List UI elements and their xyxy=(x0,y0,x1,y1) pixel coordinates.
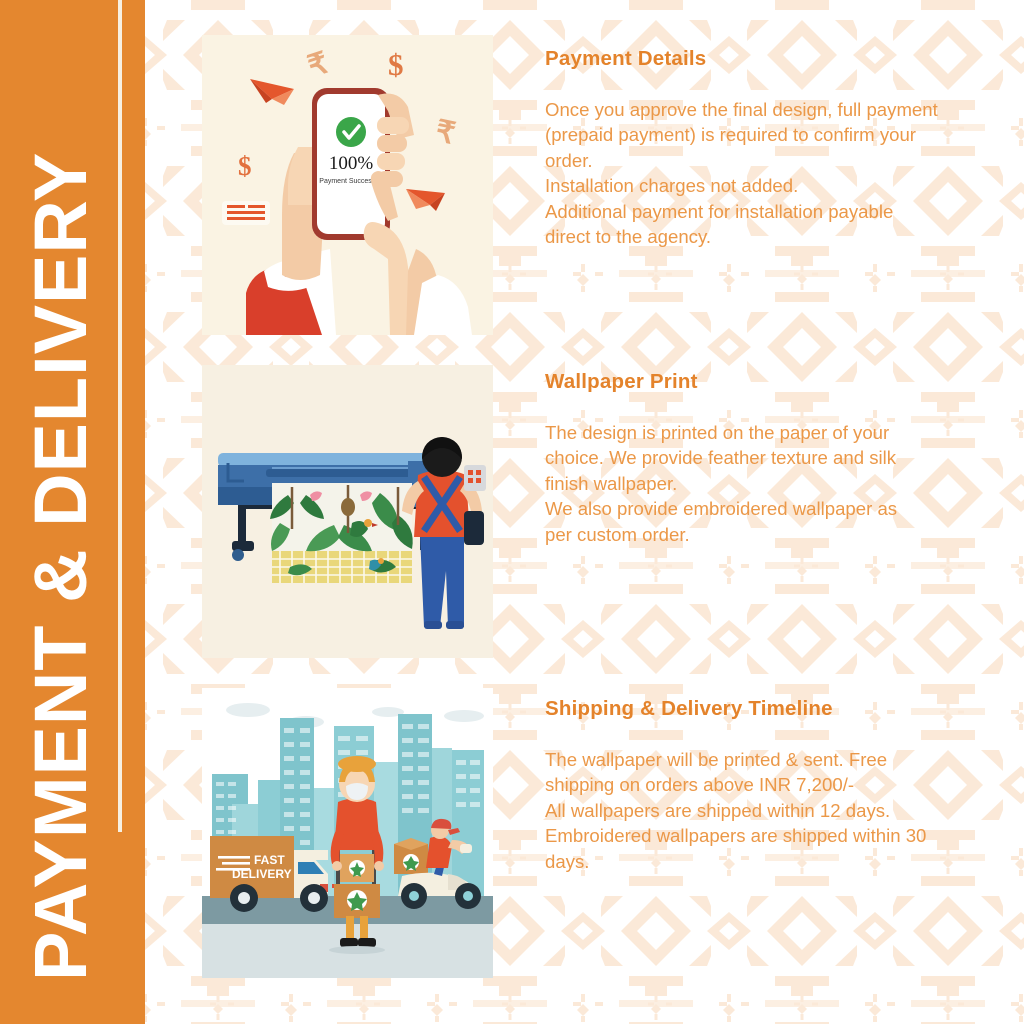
section-title: Wallpaper Print xyxy=(545,371,965,394)
body-line: Once you approve the final design, full … xyxy=(545,97,965,123)
body-line: Additional payment for installation paya… xyxy=(545,199,965,225)
body-line: order. xyxy=(545,148,965,174)
body-line: Installation charges not added. xyxy=(545,173,965,199)
section-body: The design is printed on the paper of yo… xyxy=(545,420,965,548)
body-line: choice. We provide feather texture and s… xyxy=(545,445,965,471)
page-title: PAYMENT & DELIVERY xyxy=(24,17,98,1007)
truck-label-line1: FAST xyxy=(254,853,285,867)
body-line: per custom order. xyxy=(545,522,965,548)
section-body: Once you approve the final design, full … xyxy=(545,97,965,250)
section-title: Shipping & Delivery Timeline xyxy=(545,698,965,721)
poster-root: PAYMENT & DELIVERY ₹ $ ₹ $ xyxy=(0,0,1024,1024)
body-line: The wallpaper will be printed & sent. Fr… xyxy=(545,747,965,773)
body-line: days. xyxy=(545,849,965,875)
phone-percent-label: 100% xyxy=(329,153,374,174)
tropical-print-wallpaper xyxy=(270,483,413,583)
section-title: Payment Details xyxy=(545,48,965,71)
currency-dollar-icon: $ xyxy=(388,47,404,82)
large-format-printer-illustration xyxy=(202,365,493,658)
city-delivery-illustration: FAST DELIVERY xyxy=(202,688,493,978)
shipping-delivery-text: Shipping & Delivery Timeline The wallpap… xyxy=(545,688,965,874)
wallpaper-print-text: Wallpaper Print The design is printed on… xyxy=(545,365,965,547)
section-body: The wallpaper will be printed & sent. Fr… xyxy=(545,747,965,875)
chat-lines-icon xyxy=(222,201,270,225)
title-banner: PAYMENT & DELIVERY xyxy=(0,0,145,1024)
body-line: All wallpapers are shipped within 12 day… xyxy=(545,798,965,824)
section-wallpaper-print: Wallpaper Print The design is printed on… xyxy=(145,365,1024,658)
section-shipping-delivery: FAST DELIVERY xyxy=(145,688,1024,978)
payment-success-phone-illustration: ₹ $ ₹ $ xyxy=(202,35,493,335)
body-line: (prepaid payment) is required to confirm… xyxy=(545,122,965,148)
body-line: Embroidered wallpapers are shipped withi… xyxy=(545,823,965,849)
section-payment-details: ₹ $ ₹ $ xyxy=(145,35,1024,335)
body-line: The design is printed on the paper of yo… xyxy=(545,420,965,446)
truck-label-line2: DELIVERY xyxy=(232,867,292,881)
banner-title-wrap: PAYMENT & DELIVERY xyxy=(0,0,122,1024)
body-line: finish wallpaper. xyxy=(545,471,965,497)
body-line: We also provide embroidered wallpaper as xyxy=(545,496,965,522)
payment-details-text: Payment Details Once you approve the fin… xyxy=(545,35,965,250)
body-line: shipping on orders above INR 7,200/- xyxy=(545,772,965,798)
content-area: ₹ $ ₹ $ xyxy=(145,0,1024,1024)
check-circle-icon xyxy=(336,117,366,147)
currency-dollar-icon-2: $ xyxy=(238,151,252,181)
body-line: direct to the agency. xyxy=(545,224,965,250)
